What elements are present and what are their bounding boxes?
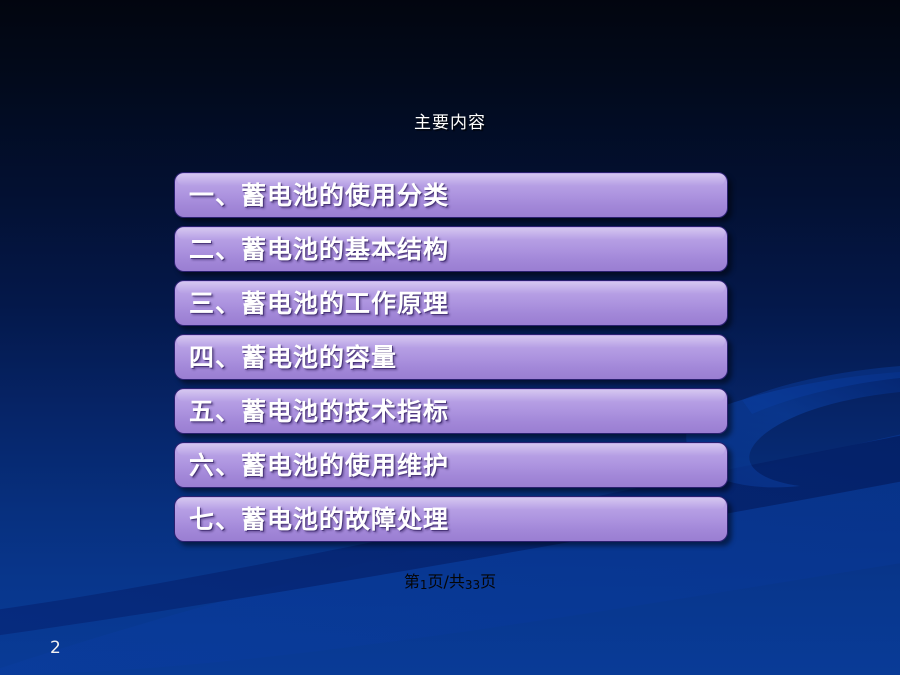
list-item-label: 五、蓄电池的技术指标	[175, 399, 449, 424]
list-item-label: 一、蓄电池的使用分类	[175, 183, 449, 208]
list-item[interactable]: 七、蓄电池的故障处理	[174, 496, 728, 542]
page-title: 主要内容	[0, 108, 900, 133]
list-item-label: 三、蓄电池的工作原理	[175, 291, 449, 316]
list-item[interactable]: 六、蓄电池的使用维护	[174, 442, 728, 488]
list-item[interactable]: 一、蓄电池的使用分类	[174, 172, 728, 218]
page-indicator: 第1页/共33页	[0, 568, 900, 592]
list-item[interactable]: 三、蓄电池的工作原理	[174, 280, 728, 326]
list-item-label: 七、蓄电池的故障处理	[175, 507, 449, 532]
slide-number: 2	[50, 638, 61, 658]
list-item[interactable]: 五、蓄电池的技术指标	[174, 388, 728, 434]
list-item-label: 四、蓄电池的容量	[175, 345, 397, 370]
list-item-label: 六、蓄电池的使用维护	[175, 453, 449, 478]
presentation-slide: 主要内容 一、蓄电池的使用分类 二、蓄电池的基本结构 三、蓄电池的工作原理 四、…	[0, 0, 900, 675]
list-item[interactable]: 四、蓄电池的容量	[174, 334, 728, 380]
page-indicator-suffix: 页	[480, 572, 496, 591]
page-indicator-prefix: 第	[404, 572, 420, 591]
page-indicator-total: 33	[465, 578, 480, 592]
contents-list: 一、蓄电池的使用分类 二、蓄电池的基本结构 三、蓄电池的工作原理 四、蓄电池的容…	[174, 172, 728, 550]
page-indicator-middle: 页/共	[427, 572, 464, 591]
list-item[interactable]: 二、蓄电池的基本结构	[174, 226, 728, 272]
swoosh-arc-upper	[742, 366, 900, 414]
list-item-label: 二、蓄电池的基本结构	[175, 237, 449, 262]
